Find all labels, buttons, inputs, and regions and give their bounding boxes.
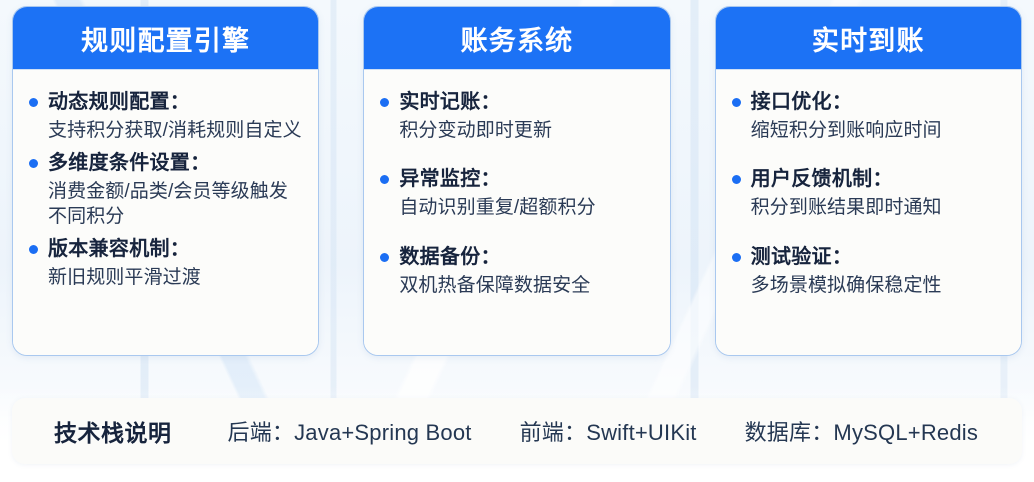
tech-stack-bar: 技术栈说明 后端：Java+Spring Boot 前端：Swift+UIKit… [12, 398, 1022, 464]
feature-title: 接口优化： [751, 88, 853, 117]
feature-card-accounting-system[interactable]: 账务系统 实时记账： 积分变动即时更新 异常监控： 自动识别重复/超额积分 [363, 6, 670, 356]
tech-stack-item-key: 数据库： [745, 420, 834, 445]
feature-item: 异常监控： 自动识别重复/超额积分 [380, 165, 653, 220]
feature-card-rule-engine[interactable]: 规则配置引擎 动态规则配置： 支持积分获取/消耗规则自定义 多维度条件设置： 消… [12, 6, 319, 356]
feature-description: 多场景模拟确保稳定性 [751, 274, 1005, 298]
feature-description: 新旧规则平滑过渡 [48, 266, 302, 290]
tech-stack-item-backend: 后端：Java+Spring Boot [228, 415, 472, 447]
tech-stack-item-database: 数据库：MySQL+Redis [745, 415, 978, 447]
feature-title-row: 版本兼容机制： [29, 235, 302, 264]
feature-item: 版本兼容机制： 新旧规则平滑过渡 [29, 235, 302, 290]
feature-title: 多维度条件设置： [48, 149, 210, 178]
feature-item: 数据备份： 双机热备保障数据安全 [380, 243, 653, 298]
bullet-dot-icon [732, 253, 741, 262]
tech-stack-item-value: MySQL+Redis [833, 420, 978, 445]
feature-item: 用户反馈机制： 积分到账结果即时通知 [732, 165, 1005, 220]
feature-cards-row: 规则配置引擎 动态规则配置： 支持积分获取/消耗规则自定义 多维度条件设置： 消… [12, 6, 1022, 356]
tech-stack-item-frontend: 前端：Swift+UIKit [520, 415, 697, 447]
feature-description: 自动识别重复/超额积分 [399, 196, 653, 220]
feature-item: 多维度条件设置： 消费金额/品类/会员等级触发不同积分 [29, 149, 302, 229]
bullet-dot-icon [380, 253, 389, 262]
feature-description: 消费金额/品类/会员等级触发不同积分 [48, 180, 302, 229]
feature-title-row: 用户反馈机制： [732, 165, 1005, 194]
bullet-dot-icon [29, 98, 38, 107]
tech-stack-item-key: 后端： [228, 420, 295, 445]
bullet-dot-icon [380, 98, 389, 107]
feature-description: 积分变动即时更新 [399, 119, 653, 143]
feature-title: 数据备份： [399, 243, 501, 272]
feature-title: 实时记账： [399, 88, 501, 117]
bullet-dot-icon [29, 245, 38, 254]
tech-stack-item-value: Java+Spring Boot [294, 420, 471, 445]
card-body-accounting-system: 实时记账： 积分变动即时更新 异常监控： 自动识别重复/超额积分 数据备份： [364, 70, 669, 355]
feature-title-row: 测试验证： [732, 243, 1005, 272]
tech-stack-label: 技术栈说明 [54, 414, 172, 448]
feature-title-row: 实时记账： [380, 88, 653, 117]
card-body-realtime-credit: 接口优化： 缩短积分到账响应时间 用户反馈机制： 积分到账结果即时通知 测试验证… [716, 70, 1021, 355]
bullet-dot-icon [29, 159, 38, 168]
feature-title-row: 接口优化： [732, 88, 1005, 117]
card-title-realtime-credit: 实时到账 [716, 7, 1021, 70]
feature-item: 接口优化： 缩短积分到账响应时间 [732, 88, 1005, 143]
feature-description: 缩短积分到账响应时间 [751, 119, 1005, 143]
feature-description: 双机热备保障数据安全 [399, 274, 653, 298]
tech-stack-item-value: Swift+UIKit [586, 420, 696, 445]
card-body-rule-engine: 动态规则配置： 支持积分获取/消耗规则自定义 多维度条件设置： 消费金额/品类/… [13, 70, 318, 355]
slide-canvas: 规则配置引擎 动态规则配置： 支持积分获取/消耗规则自定义 多维度条件设置： 消… [0, 0, 1034, 482]
feature-title: 版本兼容机制： [48, 235, 190, 264]
feature-item: 实时记账： 积分变动即时更新 [380, 88, 653, 143]
feature-item: 测试验证： 多场景模拟确保稳定性 [732, 243, 1005, 298]
bullet-dot-icon [732, 98, 741, 107]
tech-stack-items: 后端：Java+Spring Boot 前端：Swift+UIKit 数据库：M… [228, 415, 979, 447]
feature-description: 支持积分获取/消耗规则自定义 [48, 119, 302, 143]
feature-item: 动态规则配置： 支持积分获取/消耗规则自定义 [29, 88, 302, 143]
feature-title-row: 数据备份： [380, 243, 653, 272]
feature-card-realtime-credit[interactable]: 实时到账 接口优化： 缩短积分到账响应时间 用户反馈机制： 积分到账结果即时通知 [715, 6, 1022, 356]
card-title-accounting-system: 账务系统 [364, 7, 669, 70]
tech-stack-item-key: 前端： [520, 420, 587, 445]
feature-title: 用户反馈机制： [751, 165, 893, 194]
feature-title-row: 异常监控： [380, 165, 653, 194]
feature-description: 积分到账结果即时通知 [751, 196, 1005, 220]
bullet-dot-icon [732, 175, 741, 184]
feature-title: 异常监控： [399, 165, 501, 194]
feature-title-row: 多维度条件设置： [29, 149, 302, 178]
bullet-dot-icon [380, 175, 389, 184]
card-title-rule-engine: 规则配置引擎 [13, 7, 318, 70]
feature-title: 动态规则配置： [48, 88, 190, 117]
feature-title: 测试验证： [751, 243, 853, 272]
feature-title-row: 动态规则配置： [29, 88, 302, 117]
